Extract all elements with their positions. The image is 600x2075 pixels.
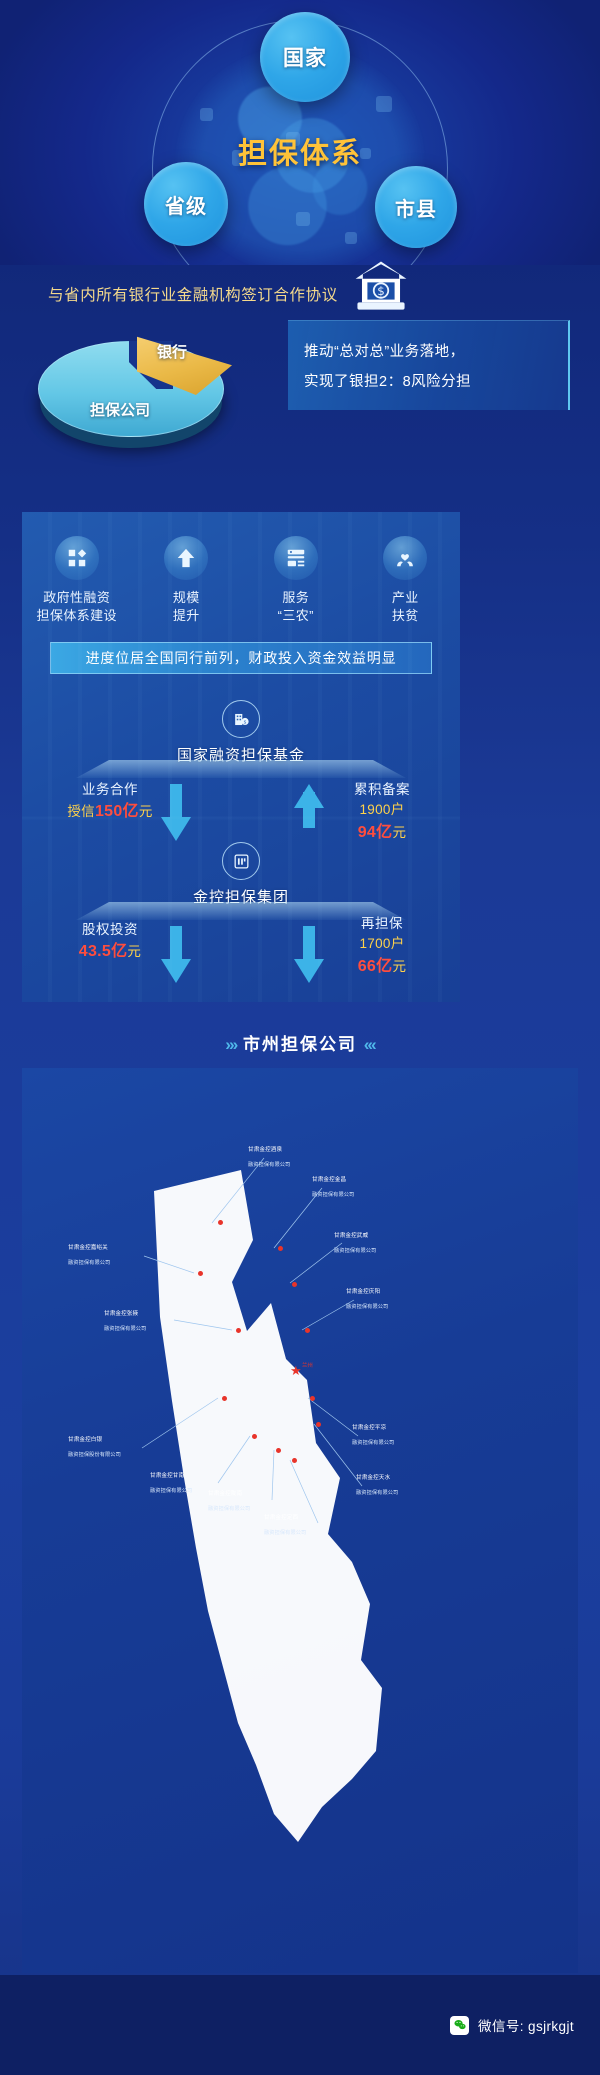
arrow-down-stem (170, 784, 182, 820)
server-icon (274, 536, 318, 580)
stat-num: 66亿 (358, 958, 393, 975)
stat-reguarantee: 再担保 1700户 66亿元 (322, 914, 442, 979)
gansu-map-section: ★ 兰州 甘肃金控酒泉融资担保有限公司 甘肃金控金昌融资担保有限公司 甘肃金控武… (22, 1068, 578, 1973)
feature-gov-guarantee[interactable]: 政府性融资 担保体系建设 (22, 536, 132, 624)
stat-post: 元 (392, 825, 406, 840)
hero-title: 担保体系 (0, 130, 600, 172)
city-dot (198, 1271, 203, 1276)
feature-icon-row: 政府性融资 担保体系建设 规模 提升 (22, 536, 460, 624)
arrow-up-filing (294, 784, 324, 808)
stat-post: 元 (127, 944, 141, 959)
map-company-label: 甘肃金控白银融资担保股份有限公司 (68, 1436, 121, 1459)
agreement-section: 与省内所有银行业金融机构签订合作协议 $ 银行 担保公司 推动“总对总”业务落地… (0, 265, 600, 515)
stat-pre: 1700户 (359, 936, 404, 951)
feature-label: 产业 (392, 590, 419, 605)
progress-ribbon: 进度位居全国同行前列，财政投入资金效益明显 (50, 642, 432, 674)
stat-pre: 1900户 (359, 802, 404, 817)
node-city-county[interactable]: 市县 (375, 166, 457, 248)
city-title-text: 市州担保公司 (243, 1035, 357, 1054)
node-label: 省级 (165, 190, 207, 219)
stat-post: 元 (392, 959, 406, 974)
feature-label: 政府性融资 (43, 590, 110, 605)
map-company-label: 甘肃金控定西融资担保有限公司 (264, 1514, 306, 1537)
svg-text:$: $ (243, 719, 246, 725)
feature-serve-agriculture[interactable]: 服务 “三农” (241, 536, 351, 624)
pie-chart: 银行 担保公司 (34, 327, 264, 437)
stat-cumulative-filing: 累积备案 1900户 94亿元 (322, 780, 442, 845)
map-company-label: 甘肃金控陇南融资担保有限公司 (208, 1490, 250, 1513)
map-company-label: 甘肃金控金昌融资担保有限公司 (312, 1176, 354, 1199)
platform-plate (76, 760, 406, 778)
node-national[interactable]: 国家 (260, 12, 350, 102)
bank-icon: $ (352, 257, 410, 315)
fund-national-node[interactable]: $ 国家融资担保基金 (22, 700, 460, 765)
pillar-icon (222, 842, 260, 880)
feature-label: 规模 (173, 590, 200, 605)
agreement-headline: 与省内所有银行业金融机构签订合作协议 (48, 283, 338, 305)
city-dot (218, 1220, 223, 1225)
stat-title: 再担保 (322, 914, 442, 934)
arrow-down-reguarantee (294, 959, 324, 983)
map-company-label: 甘肃金控天水融资担保有限公司 (356, 1474, 398, 1497)
city-dot (276, 1448, 281, 1453)
map-company-label: 甘肃金控张掖融资担保有限公司 (104, 1310, 146, 1333)
capital-star-icon: ★ (290, 1363, 302, 1379)
wechat-icon (450, 2016, 469, 2035)
map-company-label: 甘肃金控庆阳融资担保有限公司 (346, 1288, 388, 1311)
svg-text:$: $ (377, 284, 385, 298)
capital-label: 兰州 (302, 1361, 313, 1369)
hero-section: 国家 省级 市县 担保体系 (0, 0, 600, 265)
feature-label: 担保体系建设 (37, 608, 117, 623)
feature-label: 服务 (282, 590, 309, 605)
pie-label-guarantee: 担保公司 (90, 399, 150, 420)
stat-title: 业务合作 (56, 780, 164, 800)
city-dot (278, 1246, 283, 1251)
feature-label: 提升 (173, 608, 200, 623)
callout-line-1: 推动“总对总”业务落地， (304, 340, 568, 361)
chevron-right-icon: ‹‹‹ (364, 1035, 375, 1054)
stat-business-coop: 业务合作 授信150亿元 (56, 780, 164, 824)
heart-hands-icon (383, 536, 427, 580)
map-company-label: 甘肃金控甘南融资担保有限公司 (150, 1472, 192, 1495)
city-section-title: ››› 市州担保公司 ‹‹‹ (0, 1030, 600, 1055)
node-label: 市县 (395, 193, 437, 222)
stat-post: 元 (139, 804, 153, 819)
feature-scale-growth[interactable]: 规模 提升 (132, 536, 242, 624)
fund-group-node[interactable]: 金控担保集团 (22, 842, 460, 907)
map-company-label: 甘肃金控平凉融资担保有限公司 (352, 1424, 394, 1447)
footer-bar: 微信号: gsjrkgjt (0, 1975, 600, 2075)
city-dot (305, 1328, 310, 1333)
arrow-down-stem (303, 926, 315, 962)
chevron-left-icon: ››› (225, 1035, 236, 1054)
feature-label: “三农” (278, 608, 314, 623)
fund-building-icon: $ (222, 700, 260, 738)
up-arrow-icon (164, 536, 208, 580)
blocks-icon (55, 536, 99, 580)
city-dot (236, 1328, 241, 1333)
city-dot (222, 1396, 227, 1401)
node-label: 国家 (283, 42, 327, 72)
stat-pre: 授信 (67, 804, 95, 819)
stat-num: 150亿 (95, 803, 139, 820)
city-dot (316, 1422, 321, 1427)
pie-label-bank: 银行 (157, 341, 187, 362)
stat-title: 累积备案 (322, 780, 442, 800)
arrow-down-equity (161, 959, 191, 983)
map-company-label: 甘肃金控嘉峪关融资担保有限公司 (68, 1244, 110, 1267)
city-dot (292, 1282, 297, 1287)
feature-industry-poverty[interactable]: 产业 扶贫 (351, 536, 461, 624)
city-dot (310, 1396, 315, 1401)
arrow-down-credit (161, 817, 191, 841)
achievements-panel: 政府性融资 担保体系建设 规模 提升 (22, 512, 460, 1002)
feature-label: 扶贫 (392, 608, 419, 623)
city-dot (292, 1458, 297, 1463)
wechat-id-text: 微信号: gsjrkgjt (478, 2015, 574, 2035)
stat-title: 股权投资 (56, 920, 164, 940)
city-dot (252, 1434, 257, 1439)
map-company-label: 甘肃金控酒泉融资担保有限公司 (248, 1146, 290, 1169)
node-provincial[interactable]: 省级 (144, 162, 228, 246)
risk-sharing-callout: 推动“总对总”业务落地， 实现了银担2：8风险分担 (288, 320, 570, 410)
map-company-label: 甘肃金控武威融资担保有限公司 (334, 1232, 376, 1255)
callout-line-2: 实现了银担2：8风险分担 (304, 370, 568, 391)
stat-num: 43.5亿 (79, 943, 128, 960)
stat-equity-investment: 股权投资 43.5亿元 (56, 920, 164, 964)
arrow-down-stem (170, 926, 182, 962)
stat-num: 94亿 (358, 824, 393, 841)
